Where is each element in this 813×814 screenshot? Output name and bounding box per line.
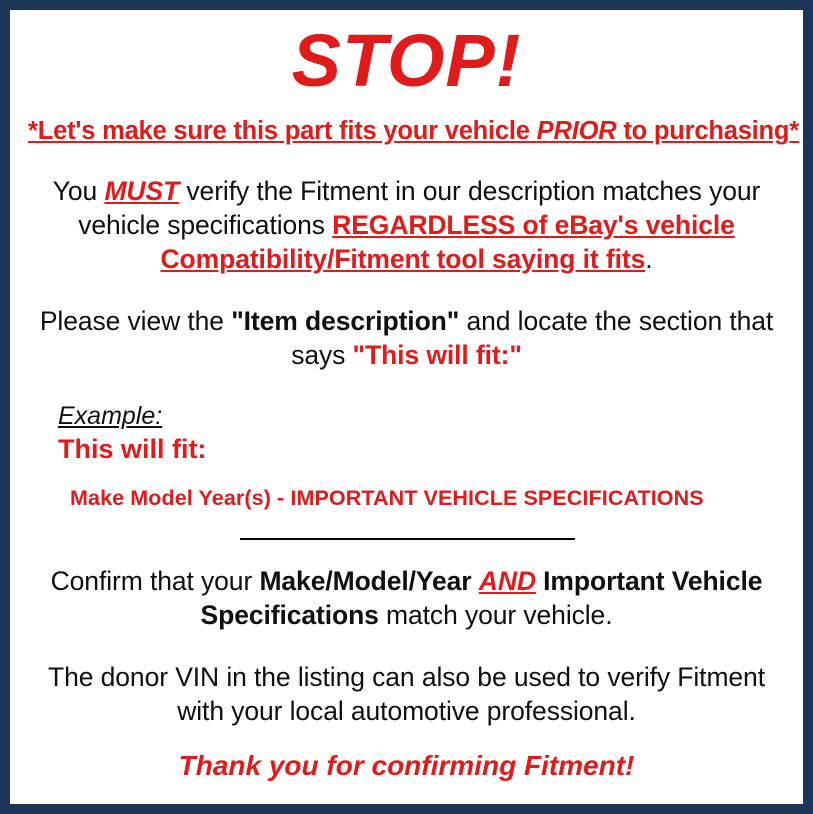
- make-model-year-emphasis: Make/Model/Year: [259, 566, 471, 596]
- paragraph-item-description: Please view the "Item description" and l…: [28, 277, 785, 373]
- example-fit-line: This will fit:: [58, 430, 785, 464]
- tagline-prefix: *Let's make sure this part fits your veh…: [28, 117, 537, 145]
- tagline-emphasis-prior: PRIOR: [537, 117, 617, 145]
- desc-part1: Please view the: [40, 306, 231, 336]
- example-label: Example:: [58, 403, 162, 431]
- thank-you-line: Thank you for confirming Fitment!: [28, 729, 785, 782]
- stop-headline: STOP!: [28, 10, 785, 98]
- confirm-part2: match your vehicle.: [379, 600, 613, 630]
- tagline-suffix: to purchasing*: [616, 117, 799, 145]
- must-emphasis: MUST: [104, 176, 179, 206]
- divider-wrap: [28, 510, 785, 540]
- paragraph-confirm: Confirm that your Make/Model/Year AND Im…: [28, 540, 785, 633]
- this-will-fit-emphasis: "This will fit:": [353, 340, 522, 370]
- paragraph-donor-vin: The donor VIN in the listing can also be…: [28, 633, 785, 729]
- and-emphasis: AND: [479, 566, 536, 596]
- notice-content: STOP! *Let's make sure this part fits yo…: [10, 10, 803, 804]
- fitment-notice-card: STOP! *Let's make sure this part fits yo…: [0, 0, 813, 814]
- example-block: Example: This will fit: Make Model Year(…: [28, 373, 785, 510]
- confirm-part1: Confirm that your: [51, 566, 260, 596]
- example-label-row: Example:: [58, 403, 785, 431]
- confirm-space-a: [472, 566, 479, 596]
- must-part3: .: [645, 244, 652, 274]
- tagline: *Let's make sure this part fits your veh…: [28, 98, 785, 146]
- paragraph-must-verify: You MUST verify the Fitment in our descr…: [28, 146, 785, 277]
- must-part1: You: [53, 176, 105, 206]
- example-spec-line: Make Model Year(s) - IMPORTANT VEHICLE S…: [58, 465, 785, 511]
- item-description-emphasis: "Item description": [231, 306, 459, 336]
